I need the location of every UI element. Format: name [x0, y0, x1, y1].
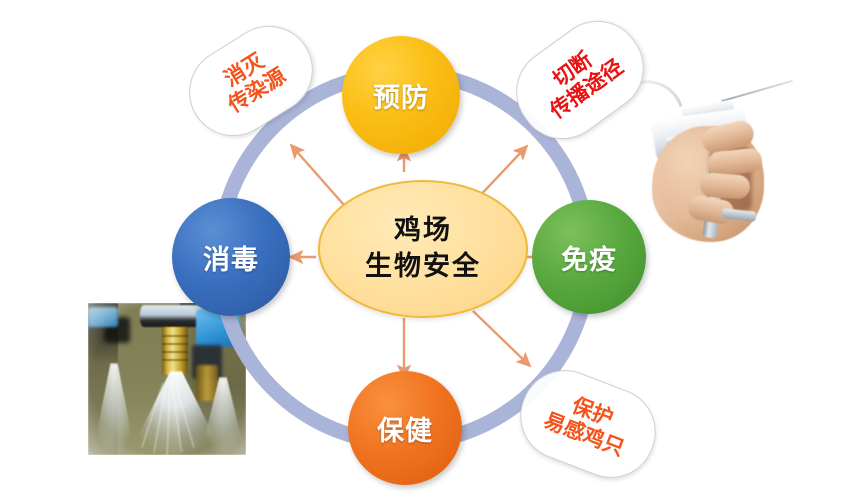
callout-protect-flock[interactable]: 保护 易感鸡只 [507, 357, 668, 490]
photo-brass-nozzle [162, 326, 188, 375]
node-disinfection[interactable]: 消毒 [172, 198, 290, 316]
node-prevention-label: 预防 [373, 76, 429, 115]
arrow-to-protect-flock [473, 311, 530, 366]
callout-eliminate-source[interactable]: 消灭 传染源 [173, 9, 330, 153]
spray-nozzle-photo [88, 303, 246, 455]
photo-blue-cap-left [88, 307, 118, 327]
node-healthcare[interactable]: 保健 [348, 371, 462, 485]
photo-needle [721, 80, 793, 102]
photo-finger [699, 172, 751, 199]
center-concept-line2: 生物安全 [365, 249, 481, 285]
center-concept[interactable]: 鸡场 生物安全 [318, 180, 528, 318]
node-immunity-label: 免疫 [561, 238, 617, 277]
node-disinfection-label: 消毒 [203, 238, 259, 277]
node-immunity[interactable]: 免疫 [532, 200, 646, 314]
center-concept-line1: 鸡场 [394, 213, 452, 249]
arrow-to-eliminate-source [291, 145, 344, 205]
diagram-canvas: 预防 消毒 免疫 保健 鸡场 生物安全 消灭 传染源 切断 传播途径 保护 易感… [0, 0, 856, 502]
photo-brass-right [196, 365, 218, 401]
vaccination-syringe-photo [636, 74, 848, 270]
node-healthcare-label: 保健 [377, 409, 433, 448]
node-prevention[interactable]: 预防 [342, 36, 460, 154]
